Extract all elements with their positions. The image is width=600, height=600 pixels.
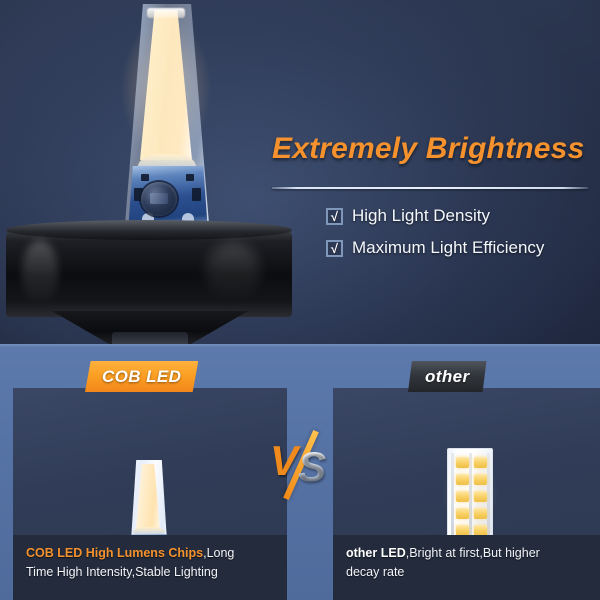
cob-caption-line-2: Time High Intensity,Stable Lighting <box>26 563 274 582</box>
versus-mark: V S <box>270 432 332 496</box>
smd-rail <box>451 453 454 543</box>
bulb-cob-top-cap <box>147 8 185 18</box>
smd-chip <box>456 508 469 519</box>
checkbox-checked-icon: √ <box>326 240 343 257</box>
feature-label: High Light Density <box>352 206 490 226</box>
title-divider <box>272 187 588 189</box>
badge-cob-led: COB LED <box>85 361 198 392</box>
smd-housing <box>447 448 493 546</box>
cob-led-bulb-image <box>0 0 292 344</box>
pcb-component <box>186 174 194 181</box>
comparison-panel-cob: COB LED High Lumens Chips,Long Time High… <box>13 388 287 600</box>
cob-chip-stage <box>13 388 287 535</box>
feature-item-high-light-density: √ High Light Density <box>326 200 592 232</box>
product-infographic: Extremely Brightness √ High Light Densit… <box>0 0 600 600</box>
bulb-driver-capacitor <box>141 182 177 216</box>
hero-section: Extremely Brightness √ High Light Densit… <box>0 0 600 344</box>
bulb-highlight <box>22 240 58 306</box>
comparison-panel-other: other LED,Bright at first,But higher dec… <box>333 388 600 600</box>
smd-chip <box>456 457 469 468</box>
smd-chip <box>456 491 469 502</box>
other-caption-line-1: other LED,Bright at first,But higher <box>346 544 594 563</box>
smd-chip <box>456 474 469 485</box>
cob-caption: COB LED High Lumens Chips,Long Time High… <box>13 535 287 600</box>
other-caption-line-2: decay rate <box>346 563 594 582</box>
pcb-component <box>141 174 149 181</box>
other-caption-rest: ,Bright at first,But higher <box>406 546 540 560</box>
pcb-component <box>192 188 201 201</box>
page-title: Extremely Brightness <box>272 132 592 166</box>
versus-s: S <box>298 446 326 488</box>
feature-label: Maximum Light Efficiency <box>352 238 544 258</box>
smd-rail <box>487 453 490 543</box>
feature-list: √ High Light Density √ Maximum Light Eff… <box>326 200 592 264</box>
smd-rail <box>469 453 472 543</box>
smd-chip <box>474 474 487 485</box>
bulb-highlight <box>206 242 260 302</box>
feature-item-maximum-light-efficiency: √ Maximum Light Efficiency <box>326 232 592 264</box>
other-caption: other LED,Bright at first,But higher dec… <box>333 535 600 600</box>
checkbox-checked-icon: √ <box>326 208 343 225</box>
smd-chip <box>474 457 487 468</box>
cob-caption-rest: ,Long <box>203 546 234 560</box>
smd-chip <box>474 508 487 519</box>
badge-other: other <box>408 361 487 392</box>
smd-chip <box>474 491 487 502</box>
bulb-neck <box>112 332 188 344</box>
smd-bulb-stage <box>333 388 600 535</box>
cob-caption-line-1: COB LED High Lumens Chips,Long <box>26 544 274 563</box>
cob-caption-highlight: COB LED High Lumens Chips <box>26 546 203 560</box>
chip-lens <box>133 527 165 535</box>
other-caption-highlight: other LED <box>346 546 406 560</box>
